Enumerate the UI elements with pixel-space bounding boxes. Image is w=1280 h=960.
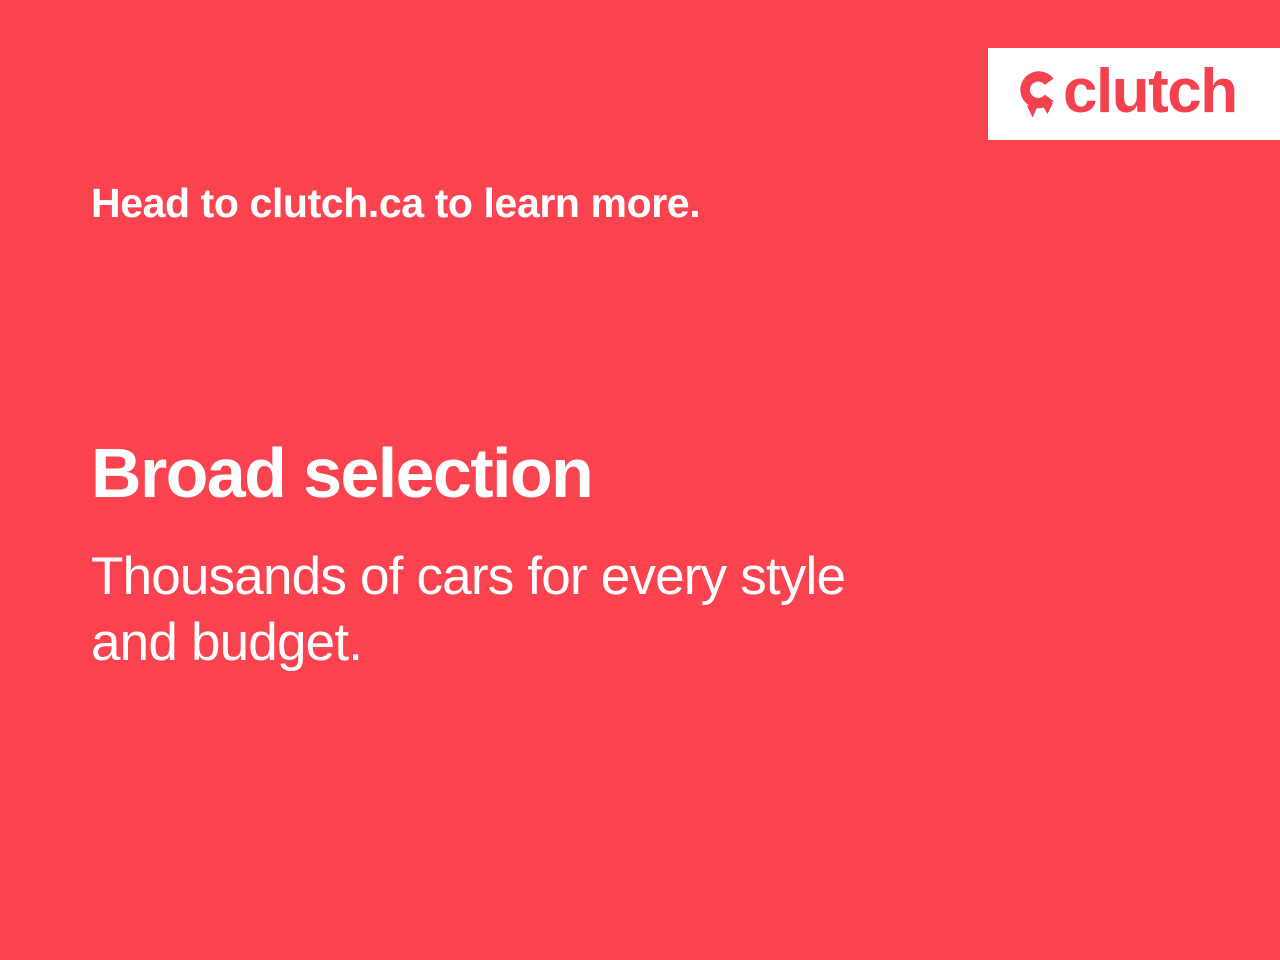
subhead-line-1: Thousands of cars for every style <box>91 544 1091 610</box>
subhead-block: Thousands of cars for every style and bu… <box>91 544 1091 675</box>
clutch-logo[interactable]: clutch <box>1012 63 1237 125</box>
logo-wordmark: clutch <box>1063 61 1237 123</box>
clutch-c-mark <box>1012 68 1058 120</box>
page-title: Broad selection <box>91 436 592 512</box>
kicker-text: Head to clutch.ca to learn more. <box>91 180 700 227</box>
slide-canvas: clutch Head to clutch.ca to learn more. … <box>0 0 1280 960</box>
subhead-line-2: and budget. <box>91 610 1091 676</box>
logo-plate: clutch <box>988 48 1280 140</box>
